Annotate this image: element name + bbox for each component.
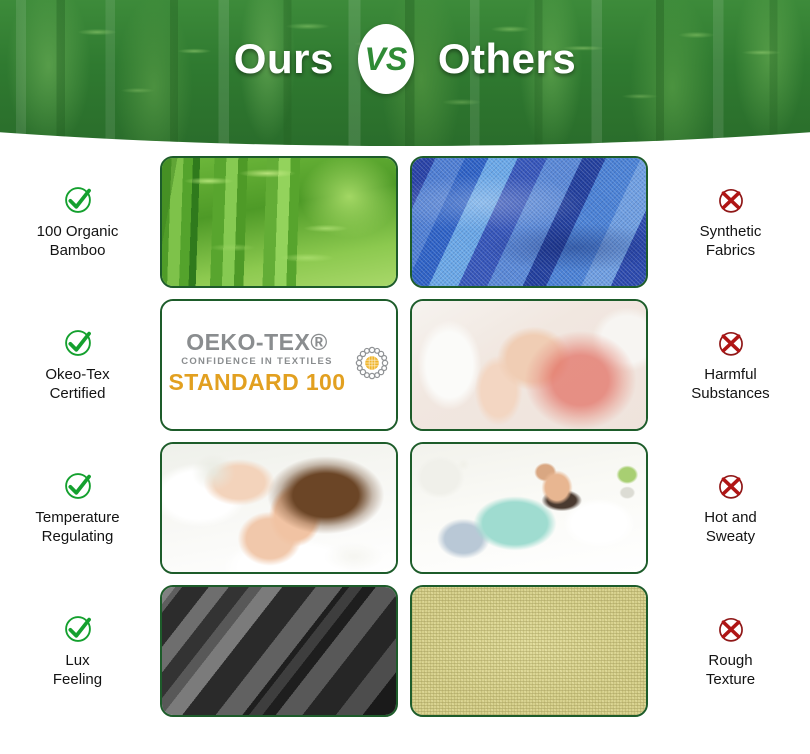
ours-feature-label: 100 Organic Bamboo [37, 223, 119, 261]
cross-circle-icon [714, 469, 748, 503]
others-image-panel [410, 156, 648, 288]
ours-image-panel [160, 156, 398, 288]
check-circle-icon [61, 326, 95, 360]
oeko-standard-text: STANDARD 100 [169, 370, 346, 395]
comparison-row: 100 Organic Bamboo Synthetic Fabrics [0, 150, 810, 293]
comparison-row: Lux Feeling Rough Texture [0, 579, 810, 722]
dark-silky-satin-fabric-photo [162, 587, 396, 715]
others-feature-2: Harmful Substances [653, 326, 808, 404]
oeko-tagline-text: CONFIDENCE IN TEXTILES [181, 354, 333, 369]
irritated-skin-scratching-photo [412, 301, 646, 429]
blue-synthetic-fabric-photo [412, 158, 646, 286]
header-banner: Ours VS Others [0, 0, 810, 146]
header-ours-title: Ours [234, 38, 334, 80]
others-feature-label: Rough Texture [706, 652, 755, 690]
others-image-panel [410, 585, 648, 717]
ours-feature-1: 100 Organic Bamboo [0, 183, 155, 261]
others-feature-label: Synthetic Fabrics [700, 223, 762, 261]
others-feature-1: Synthetic Fabrics [653, 183, 808, 261]
check-circle-icon [61, 612, 95, 646]
others-feature-4: Rough Texture [653, 612, 808, 690]
beige-rough-burlap-fabric-photo [412, 587, 646, 715]
cross-circle-icon [714, 612, 748, 646]
header-others-title: Others [438, 38, 576, 80]
others-image-panel [410, 442, 648, 574]
vs-badge-label: VS [364, 43, 407, 75]
ours-feature-label: Temperature Regulating [35, 509, 119, 547]
ours-feature-3: Temperature Regulating [0, 469, 155, 547]
ours-feature-4: Lux Feeling [0, 612, 155, 690]
flower-sun-emblem-icon [355, 346, 389, 380]
man-hot-sweaty-in-bed-photo [412, 444, 646, 572]
others-feature-label: Hot and Sweaty [704, 509, 757, 547]
ours-feature-label: Lux Feeling [53, 652, 102, 690]
comparison-row: Okeo-Tex Certified OEKO-TEX® CONFIDENCE … [0, 293, 810, 436]
green-bamboo-stalks-photo [162, 158, 396, 286]
woman-sleeping-peacefully-photo [162, 444, 396, 572]
oeko-brand-text: OEKO-TEX® [186, 330, 328, 354]
others-image-panel [410, 299, 648, 431]
comparison-rows: 100 Organic Bamboo Synthetic Fabrics Oke… [0, 150, 810, 722]
check-circle-icon [61, 469, 95, 503]
oeko-tex-standard-100-certificate: OEKO-TEX® CONFIDENCE IN TEXTILES STANDAR… [162, 301, 396, 429]
ours-image-panel [160, 585, 398, 717]
vs-badge: VS [358, 24, 414, 94]
check-circle-icon [61, 183, 95, 217]
cross-circle-icon [714, 183, 748, 217]
ours-image-panel [160, 442, 398, 574]
cross-circle-icon [714, 326, 748, 360]
ours-feature-2: Okeo-Tex Certified [0, 326, 155, 404]
ours-image-panel: OEKO-TEX® CONFIDENCE IN TEXTILES STANDAR… [160, 299, 398, 431]
others-feature-label: Harmful Substances [691, 366, 769, 404]
ours-feature-label: Okeo-Tex Certified [45, 366, 109, 404]
comparison-row: Temperature Regulating Hot and Sweaty [0, 436, 810, 579]
others-feature-3: Hot and Sweaty [653, 469, 808, 547]
